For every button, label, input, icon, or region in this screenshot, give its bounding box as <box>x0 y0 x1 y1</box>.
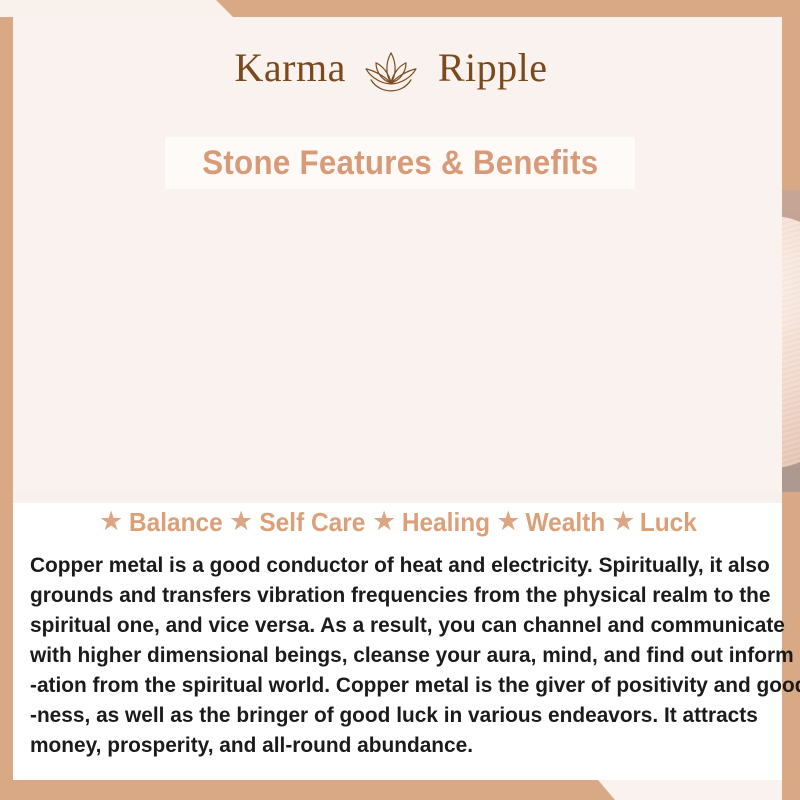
headline-banner: Stone Features & Benefits <box>165 137 635 189</box>
benefit-item-healing: Healing <box>402 509 490 535</box>
infographic-page: Karma Ripple Stone Features & Benefits <box>0 0 800 800</box>
frame-bottom-bar <box>0 780 615 800</box>
description-line: -ation from the spiritual world. Copper … <box>30 670 743 700</box>
star-icon: ★ <box>611 508 635 535</box>
lotus-icon <box>359 47 423 95</box>
star-icon: ★ <box>372 508 396 535</box>
benefit-item-wealth: Wealth <box>526 509 606 535</box>
star-icon: ★ <box>496 508 520 535</box>
description-line: money, prosperity, and all-round abundan… <box>30 730 743 760</box>
description-line: -ness, as well as the bringer of good lu… <box>30 700 743 730</box>
benefit-item-balance: Balance <box>129 509 223 535</box>
benefit-item-self-care: Self Care <box>260 509 366 535</box>
benefit-item-luck: Luck <box>640 509 697 535</box>
benefits-list: ★ Balance ★ Self Care ★ Healing ★ Wealth… <box>13 508 782 535</box>
frame-top-bar <box>216 0 800 17</box>
description-text: Copper metal is a good conductor of heat… <box>30 550 765 760</box>
frame-left-bar <box>0 17 13 800</box>
brand-word-ripple: Ripple <box>438 48 548 88</box>
brand-word-karma: Karma <box>235 48 346 88</box>
star-icon: ★ <box>229 508 253 535</box>
description-line: spiritual one, and vice versa. As a resu… <box>30 610 743 640</box>
star-icon: ★ <box>99 508 123 535</box>
description-line: with higher dimensional beings, cleanse … <box>30 640 743 670</box>
description-line: Copper metal is a good conductor of heat… <box>30 550 743 580</box>
card-top-tint <box>13 492 782 503</box>
content-card: ★ Balance ★ Self Care ★ Healing ★ Wealth… <box>13 492 782 780</box>
page-title: Stone Features & Benefits <box>202 144 598 183</box>
description-line: grounds and transfers vibration frequenc… <box>30 580 743 610</box>
